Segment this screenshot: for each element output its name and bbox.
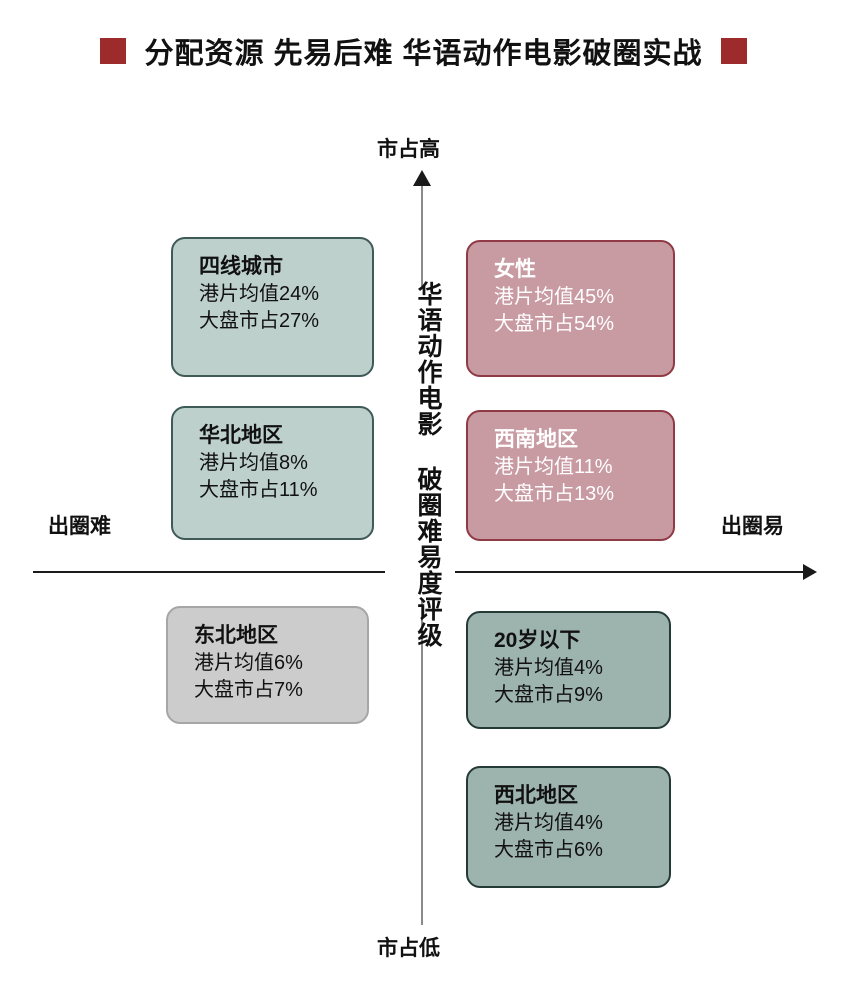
card-metric-1: 港片均值45%	[494, 284, 673, 311]
axis-label-bottom: 市占低	[377, 932, 440, 962]
card-metric-2: 大盘市占27%	[199, 308, 372, 335]
quadrant-card[interactable]: 西北地区 港片均值4% 大盘市占6%	[466, 766, 671, 888]
quadrant-card[interactable]: 东北地区 港片均值6% 大盘市占7%	[166, 606, 369, 724]
vertical-axis-top-segment	[421, 186, 423, 286]
axis-label-top: 市占高	[377, 133, 440, 163]
card-metric-2: 大盘市占9%	[494, 682, 669, 709]
quadrant-card[interactable]: 西南地区 港片均值11% 大盘市占13%	[466, 410, 675, 541]
quadrant-card[interactable]: 女性 港片均值45% 大盘市占54%	[466, 240, 675, 377]
axis-label-center-vertical: 华语动作电影 破圈难易度评级	[404, 281, 440, 648]
horizontal-axis-left-segment	[33, 571, 385, 573]
axis-label-left: 出圈难	[48, 510, 111, 540]
horizontal-axis-arrow-icon	[803, 564, 817, 580]
quadrant-card[interactable]: 20岁以下 港片均值4% 大盘市占9%	[466, 611, 671, 729]
card-title: 华北地区	[199, 422, 372, 450]
card-metric-1: 港片均值8%	[199, 450, 372, 477]
card-metric-1: 港片均值4%	[494, 810, 669, 837]
card-metric-1: 港片均值11%	[494, 454, 673, 481]
card-title: 西北地区	[494, 782, 669, 810]
card-metric-2: 大盘市占13%	[494, 481, 673, 508]
vertical-axis-arrow-icon	[413, 170, 431, 186]
card-metric-1: 港片均值4%	[494, 655, 669, 682]
quadrant-card[interactable]: 四线城市 港片均值24% 大盘市占27%	[171, 237, 374, 377]
quadrant-matrix: 市占高 市占低 出圈难 出圈易 华语动作电影 破圈难易度评级 四线城市 港片均值…	[0, 0, 847, 998]
card-title: 西南地区	[494, 426, 673, 454]
card-metric-1: 港片均值6%	[194, 650, 367, 677]
axis-label-right: 出圈易	[721, 510, 784, 540]
card-title: 女性	[494, 256, 673, 284]
card-metric-2: 大盘市占11%	[199, 477, 372, 504]
card-title: 东北地区	[194, 622, 367, 650]
card-title: 20岁以下	[494, 627, 669, 655]
vertical-axis-bottom-segment	[421, 600, 423, 925]
card-metric-2: 大盘市占6%	[494, 837, 669, 864]
quadrant-card[interactable]: 华北地区 港片均值8% 大盘市占11%	[171, 406, 374, 540]
card-metric-2: 大盘市占7%	[194, 677, 367, 704]
card-title: 四线城市	[199, 253, 372, 281]
card-metric-2: 大盘市占54%	[494, 311, 673, 338]
horizontal-axis-right-segment	[455, 571, 805, 573]
card-metric-1: 港片均值24%	[199, 281, 372, 308]
